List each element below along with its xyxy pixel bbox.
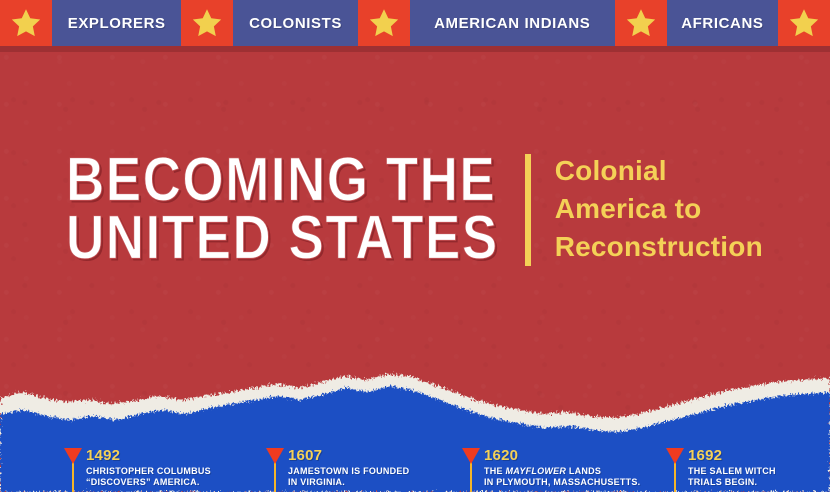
timeline-event[interactable]: 1492 CHRISTOPHER COLUMBUS “DISCOVERS” AM… [62, 448, 211, 492]
triangle-down-icon [64, 448, 82, 464]
timeline-desc-line-2: TRIALS BEGIN. [688, 477, 776, 488]
timeline-desc-line-1: THE SALEM WITCH [688, 466, 776, 477]
marker-stem [674, 460, 676, 492]
timeline-year: 1692 [688, 448, 776, 463]
marker-stem [72, 460, 74, 492]
timeline-marker-icon [460, 448, 482, 492]
desc-post: LANDS [566, 466, 601, 476]
timeline-desc-line-1: JAMESTOWN IS FOUNDED [288, 466, 409, 477]
timeline-desc-line-1: THE MAYFLOWER LANDS [484, 466, 640, 477]
timeline-marker-icon [62, 448, 84, 492]
timeline-desc-line-2: IN VIRGINIA. [288, 477, 409, 488]
desc-emphasis: MAYFLOWER [506, 466, 567, 476]
timeline-desc-line-1: CHRISTOPHER COLUMBUS [86, 466, 211, 477]
timeline-event[interactable]: 1607 JAMESTOWN IS FOUNDED IN VIRGINIA. [264, 448, 409, 492]
timeline-year: 1492 [86, 448, 211, 463]
timeline-event[interactable]: 1620 THE MAYFLOWER LANDS IN PLYMOUTH, MA… [460, 448, 640, 492]
timeline-marker-icon [264, 448, 286, 492]
timeline-year: 1607 [288, 448, 409, 463]
triangle-down-icon [266, 448, 284, 464]
timeline-year: 1620 [484, 448, 640, 463]
timeline: 1492 CHRISTOPHER COLUMBUS “DISCOVERS” AM… [0, 0, 830, 492]
marker-stem [470, 460, 472, 492]
marker-stem [274, 460, 276, 492]
triangle-down-icon [666, 448, 684, 464]
timeline-marker-icon [664, 448, 686, 492]
timeline-desc-line-2: IN PLYMOUTH, MASSACHUSETTS. [484, 477, 640, 488]
timeline-desc-line-2: “DISCOVERS” AMERICA. [86, 477, 211, 488]
triangle-down-icon [462, 448, 480, 464]
desc-pre: THE [484, 466, 506, 476]
timeline-event[interactable]: 1692 THE SALEM WITCH TRIALS BEGIN. [664, 448, 776, 492]
poster-root: BECOMING THE UNITED STATES Colonial Amer… [0, 0, 830, 492]
